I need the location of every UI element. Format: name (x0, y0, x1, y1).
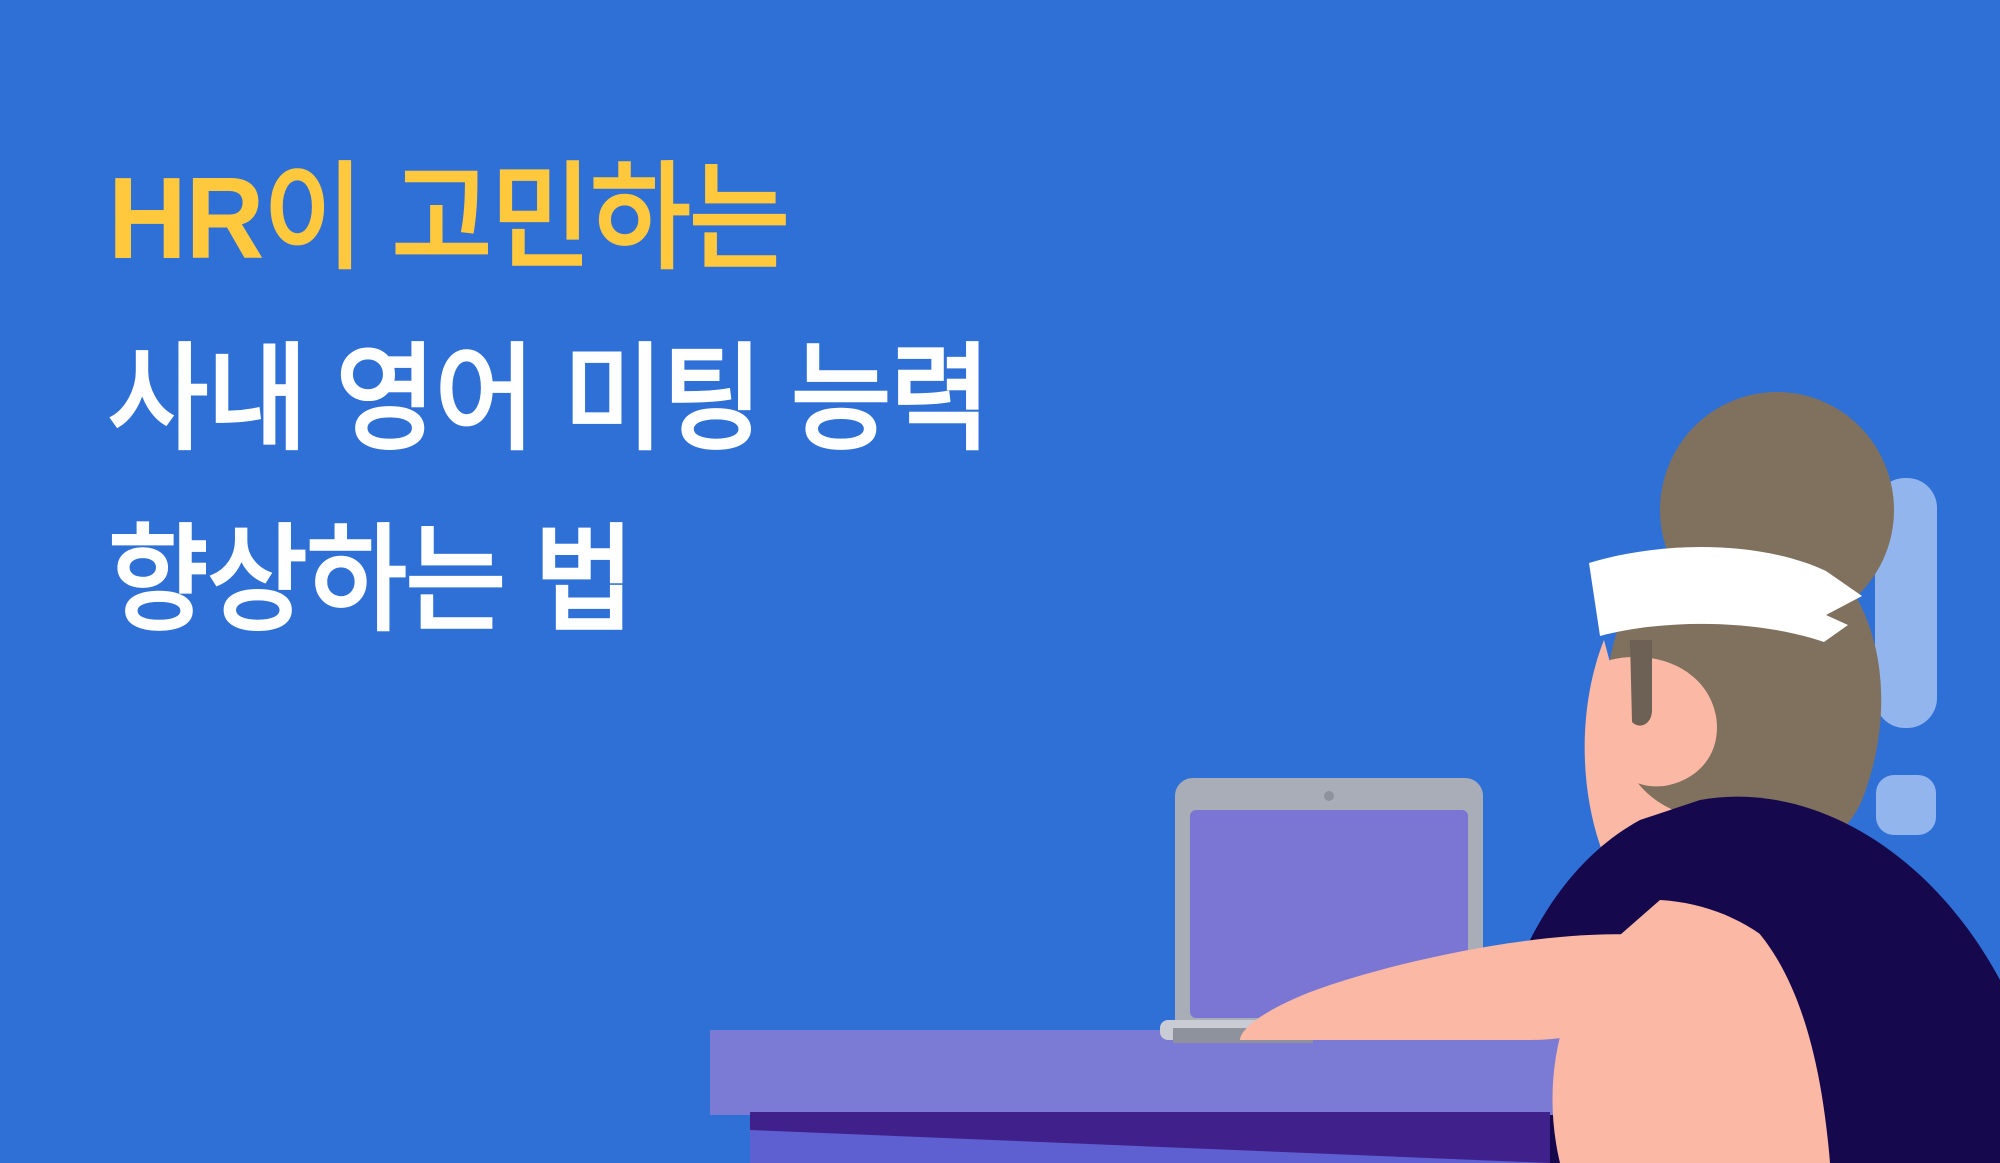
headline-line-3: 향상하는 법 (108, 490, 989, 671)
headline-line-2: 사내 영어 미팅 능력 (108, 309, 989, 490)
desk-top (710, 1030, 1570, 1115)
headline-line-1: HR이 고민하는 (108, 128, 989, 309)
promo-banner: HR이 고민하는 사내 영어 미팅 능력 향상하는 법 (0, 0, 2000, 1163)
headline: HR이 고민하는 사내 영어 미팅 능력 향상하는 법 (108, 128, 1046, 671)
laptop-camera (1324, 791, 1334, 801)
